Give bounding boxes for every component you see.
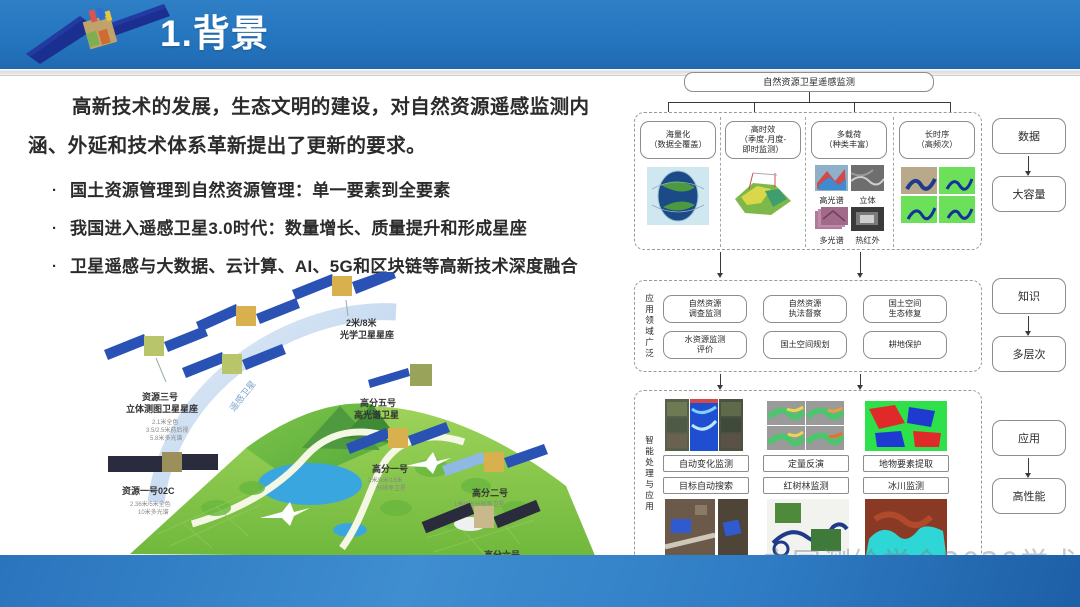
svg-text:高分一号: 高分一号: [372, 463, 408, 474]
satellite-item: [182, 344, 286, 378]
svg-text:2.36米/5米全色: 2.36米/5米全色: [130, 500, 171, 508]
connector-line: [950, 102, 951, 112]
capability-chain: 数据 大容量 知识 多层次 应用 高性能: [992, 118, 1070, 518]
chain-box-high-performance[interactable]: 高性能: [992, 478, 1066, 514]
app-box-resource-survey[interactable]: 自然资源 调查监测: [663, 295, 747, 323]
column-divider: [893, 117, 894, 247]
connector-arrow: [1028, 156, 1029, 172]
quantitative-inversion-thumb: [767, 401, 845, 450]
thumb-label: 热红外: [851, 236, 884, 246]
svg-text:高光谱卫星: 高光谱卫星: [354, 409, 399, 420]
terrain-thumbnail: [731, 169, 795, 221]
top-box-high-timeliness[interactable]: 高时效 （季度-月度- 即时监测）: [725, 121, 801, 159]
timeseries-thumb-image: [939, 196, 975, 223]
slide-root: 1.背景 高新技术的发展，生态文明的建设，对自然资源遥感监测内涵、外延和技术体系…: [0, 0, 1080, 607]
svg-text:2.1米全色: 2.1米全色: [152, 418, 178, 426]
chain-box-data[interactable]: 数据: [992, 118, 1066, 154]
chain-box-application[interactable]: 应用: [992, 420, 1066, 456]
app-box-water-monitoring[interactable]: 水资源监测 评价: [663, 331, 747, 359]
svg-text:资源三号: 资源三号: [142, 391, 178, 402]
svg-text:2米/8米: 2米/8米: [346, 317, 378, 328]
proc-box-quantitative-inversion[interactable]: 定量反演: [763, 455, 849, 472]
thermal-ir-thumb-image: [851, 207, 884, 231]
bullet-marker: ·: [52, 210, 70, 248]
connector-arrow: [860, 252, 861, 274]
timeseries-thumb-image: [901, 196, 937, 223]
arc-label: 遥感卫星: [227, 378, 258, 413]
satellite-icon: [24, 2, 172, 68]
connector-line: [809, 92, 810, 102]
page-title: 1.背景: [160, 6, 269, 62]
application-domain-group: 应用领域广泛 自然资源 调查监测 自然资源 执法督察 国土空间 生态修复 水资源…: [634, 280, 982, 372]
lead-paragraph: 高新技术的发展，生态文明的建设，对自然资源遥感监测内涵、外延和技术体系革新提出了…: [28, 88, 628, 166]
connector-line: [854, 102, 855, 112]
proc-box-mangrove-monitoring[interactable]: 红树林监测: [763, 477, 849, 494]
timeseries-thumb-grid: [901, 167, 977, 223]
remote-sensing-diagram: 自然资源卫星遥感监测 海量化 （数据全覆盖） 高时效 （季度-月度- 即时监测）…: [632, 72, 984, 572]
satellite-item: 高分五号 高光谱卫星: [354, 364, 432, 420]
column-divider: [720, 117, 721, 247]
proc-box-feature-extraction[interactable]: 地物要素提取: [863, 455, 949, 472]
bullet-text: 我国进入遥感卫星3.0时代：数量增长、质量提升和形成星座: [70, 210, 527, 248]
svg-text:5.8米多光谱: 5.8米多光谱: [150, 434, 182, 442]
section-side-label: 智能处理与应用: [643, 435, 656, 512]
arrow-head-icon: [857, 273, 863, 278]
change-detection-thumb: [665, 399, 743, 451]
bullet-text: 国土资源管理到自然资源管理：单一要素到全要素: [70, 172, 451, 210]
section-side-label: 应用领域广泛: [643, 293, 656, 359]
svg-text:2米/8米/16米: 2米/8米/16米: [368, 476, 403, 484]
connector-line: [754, 102, 755, 112]
diagram-root-node: 自然资源卫星遥感监测: [684, 72, 934, 92]
svg-text:立体测图卫星星座: 立体测图卫星星座: [126, 403, 198, 414]
thumb-label: 多光谱: [815, 236, 848, 246]
connector-arrow: [720, 252, 721, 274]
payload-thumb-grid: 高光谱 立体: [815, 165, 889, 246]
svg-text:10米多光谱: 10米多光谱: [138, 508, 169, 516]
satellite-constellation-illustration: 遥感卫星 2米/8米: [96, 272, 636, 572]
connector-line: [668, 102, 669, 112]
target-search-thumb: [665, 499, 748, 561]
timeseries-thumb-image: [939, 167, 975, 194]
timeseries-thumb-image: [901, 167, 937, 194]
connector-line: [668, 102, 950, 103]
column-divider: [805, 117, 806, 247]
app-box-territorial-planning[interactable]: 国土空间规划: [763, 331, 847, 359]
proc-box-target-search[interactable]: 目标自动搜索: [663, 477, 749, 494]
list-item: · 我国进入遥感卫星3.0时代：数量增长、质量提升和形成星座: [52, 210, 642, 248]
chain-box-multi-level[interactable]: 多层次: [992, 336, 1066, 372]
top-box-long-timeseries[interactable]: 长时序 （高频次）: [899, 121, 975, 159]
thumb-label: 高光谱: [815, 196, 848, 206]
svg-text:高分五号: 高分五号: [360, 397, 396, 408]
footer-band: [0, 555, 1080, 607]
top-section-group: 海量化 （数据全覆盖） 高时效 （季度-月度- 即时监测） 多载荷 （种类丰富）…: [634, 112, 982, 250]
svg-text:3.5/2.5米前后视: 3.5/2.5米前后视: [146, 426, 188, 434]
arrow-head-icon: [717, 273, 723, 278]
chain-box-knowledge[interactable]: 知识: [992, 278, 1066, 314]
multispectral-thumb-image: [815, 207, 848, 231]
top-box-massive-data[interactable]: 海量化 （数据全覆盖）: [640, 121, 716, 159]
feature-extraction-thumb: [865, 401, 947, 451]
app-box-law-enforcement[interactable]: 自然资源 执法督察: [763, 295, 847, 323]
list-item: · 国土资源管理到自然资源管理：单一要素到全要素: [52, 172, 642, 210]
proc-box-change-detection[interactable]: 自动变化监测: [663, 455, 749, 472]
proc-box-glacier-monitoring[interactable]: 冰川监测: [863, 477, 949, 494]
hyperspectral-thumb-image: [815, 165, 848, 191]
connector-arrow: [1028, 316, 1029, 332]
connector-arrow: [1028, 458, 1029, 474]
app-box-farmland-protection[interactable]: 耕地保护: [863, 331, 947, 359]
svg-text:资源一号02C: 资源一号02C: [122, 485, 175, 496]
svg-text:光学卫星星座: 光学卫星星座: [339, 329, 394, 340]
bullet-list: · 国土资源管理到自然资源管理：单一要素到全要素 · 我国进入遥感卫星3.0时代…: [52, 172, 642, 286]
bullet-marker: ·: [52, 172, 70, 210]
chain-box-large-capacity[interactable]: 大容量: [992, 176, 1066, 212]
bullet-marker: ·: [52, 248, 70, 286]
svg-text:高分二号: 高分二号: [472, 487, 508, 498]
stereo-thumb-image: [851, 165, 884, 191]
app-box-eco-restoration[interactable]: 国土空间 生态修复: [863, 295, 947, 323]
svg-text:分辨率卫星: 分辨率卫星: [376, 484, 406, 492]
thumb-label: 立体: [851, 196, 884, 206]
top-box-multi-payload[interactable]: 多载荷 （种类丰富）: [811, 121, 887, 159]
globe-thumbnail: [647, 167, 709, 225]
